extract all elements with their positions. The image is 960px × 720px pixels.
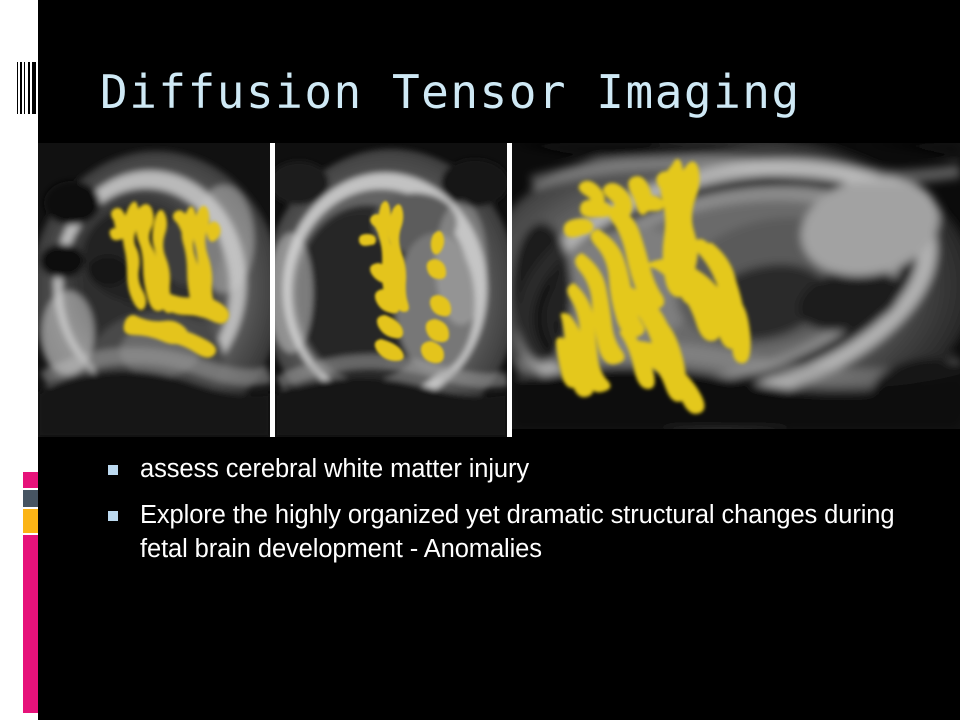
bullet-square-icon [108, 465, 118, 475]
slide-canvas: Diffusion Tensor Imaging [0, 0, 960, 720]
image-strip [38, 143, 960, 438]
accent-bar-pink [23, 535, 38, 713]
fetal-brain-mri-coronal-left-image [38, 143, 270, 437]
barcode-decoration-icon [17, 62, 39, 114]
bullet-text: Explore the highly organized yet dramati… [140, 498, 908, 566]
mri-panel-1 [38, 143, 270, 437]
page-title: Diffusion Tensor Imaging [100, 62, 930, 122]
bullet-text: assess cerebral white matter injury [140, 452, 908, 486]
accent-chip-pink [23, 472, 38, 488]
list-item: assess cerebral white matter injury [108, 452, 908, 486]
fetal-brain-mri-coronal-right-image [275, 143, 507, 437]
bullet-square-icon [108, 511, 118, 521]
list-item: Explore the highly organized yet dramati… [108, 498, 908, 566]
accent-chip-amber [23, 509, 38, 533]
accent-chip-slate [23, 490, 38, 507]
mri-panel-3 [512, 143, 960, 429]
bullet-list: assess cerebral white matter injury Expl… [108, 452, 908, 578]
mri-panel-2 [275, 143, 507, 437]
fetal-brain-mri-axial-zoom-image [512, 143, 960, 429]
